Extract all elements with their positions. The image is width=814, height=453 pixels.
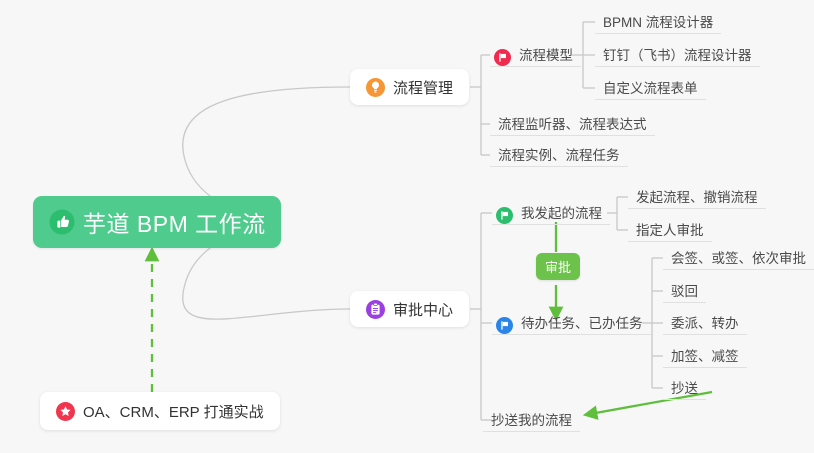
lightbulb-icon <box>366 78 385 97</box>
root-node[interactable]: 芋道 BPM 工作流 <box>33 196 281 248</box>
footnote-label: OA、CRM、ERP 打通实战 <box>83 401 264 422</box>
node-todo-done-tasks[interactable]: 待办任务、已办任务 <box>492 309 651 335</box>
node-add-remove-sign[interactable]: 加签、减签 <box>663 342 747 368</box>
node-cc[interactable]: 抄送 <box>663 374 706 400</box>
node-label: 抄送 <box>671 379 698 399</box>
footnote-node-oa-crm-erp[interactable]: OA、CRM、ERP 打通实战 <box>40 392 280 430</box>
thumbs-up-icon <box>49 209 75 235</box>
root-label: 芋道 BPM 工作流 <box>83 205 266 239</box>
node-cc-to-me[interactable]: 抄送我的流程 <box>483 406 580 432</box>
branch-node-approval-center[interactable]: 审批中心 <box>350 291 469 327</box>
node-label: 我发起的流程 <box>521 204 602 224</box>
node-label: 委派、转办 <box>671 314 739 334</box>
node-delegate-transfer[interactable]: 委派、转办 <box>663 309 747 335</box>
node-label: 流程监听器、流程表达式 <box>498 115 647 135</box>
clipboard-icon <box>366 300 385 319</box>
branch-label: 流程管理 <box>393 77 453 98</box>
node-process-model[interactable]: 流程模型 <box>490 41 581 67</box>
approval-badge-label: 审批 <box>545 260 571 275</box>
node-label: 抄送我的流程 <box>491 411 572 431</box>
flag-icon-green <box>496 207 513 224</box>
node-label: 待办任务、已办任务 <box>521 314 643 334</box>
node-label: 指定人审批 <box>636 221 704 241</box>
flag-icon-red <box>494 49 511 66</box>
node-custom-form[interactable]: 自定义流程表单 <box>595 74 706 100</box>
node-reject[interactable]: 驳回 <box>663 277 706 303</box>
node-label: BPMN 流程设计器 <box>603 13 713 33</box>
node-label: 加签、减签 <box>671 347 739 367</box>
node-my-started-process[interactable]: 我发起的流程 <box>492 199 610 225</box>
node-bpmn-designer[interactable]: BPMN 流程设计器 <box>595 8 721 34</box>
node-label: 发起流程、撤销流程 <box>636 188 758 208</box>
node-label: 流程实例、流程任务 <box>498 146 620 166</box>
node-label: 驳回 <box>671 282 698 302</box>
node-countersign[interactable]: 会签、或签、依次审批 <box>663 244 814 270</box>
mindmap-canvas: 芋道 BPM 工作流 流程管理 流程模型 BPMN 流程设计器 钉钉（飞书）流程 <box>0 0 814 453</box>
node-label: 流程模型 <box>519 46 573 66</box>
node-label: 自定义流程表单 <box>603 79 698 99</box>
branch-node-process-management[interactable]: 流程管理 <box>350 69 469 105</box>
node-dingtalk-designer[interactable]: 钉钉（飞书）流程设计器 <box>595 41 760 67</box>
star-icon <box>56 402 75 421</box>
node-process-instance[interactable]: 流程实例、流程任务 <box>490 141 628 167</box>
node-assignee-approval[interactable]: 指定人审批 <box>628 216 712 242</box>
approval-badge: 审批 <box>536 253 580 280</box>
branch-label: 审批中心 <box>393 299 453 320</box>
node-label: 会签、或签、依次审批 <box>671 249 806 269</box>
node-start-cancel-process[interactable]: 发起流程、撤销流程 <box>628 183 766 209</box>
node-label: 钉钉（飞书）流程设计器 <box>603 46 752 66</box>
node-process-listener[interactable]: 流程监听器、流程表达式 <box>490 110 655 136</box>
flag-icon-blue <box>496 317 513 334</box>
